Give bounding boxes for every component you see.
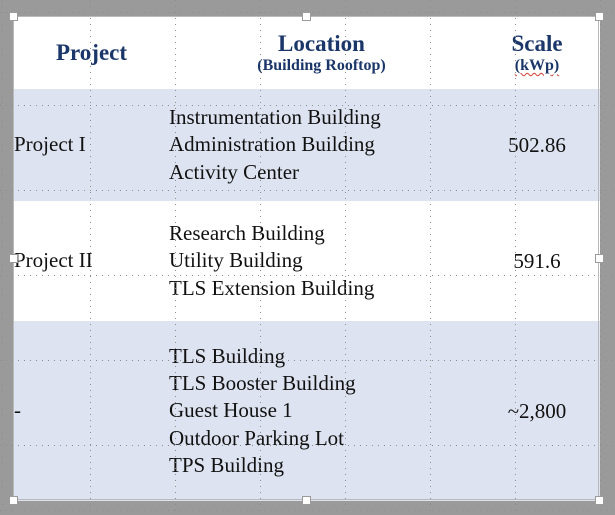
spellcheck-underlined-text: (kWp) — [515, 57, 559, 74]
location-line: Administration Building — [169, 131, 474, 158]
location-line: Instrumentation Building — [169, 104, 474, 131]
handle-bottom-left[interactable] — [9, 496, 18, 505]
cell-scale[interactable]: ~2,800 — [474, 321, 600, 501]
location-line: Activity Center — [169, 159, 474, 186]
column-header-sub-location: (Building Rooftop) — [169, 57, 474, 75]
cell-location[interactable]: Research BuildingUtility BuildingTLS Ext… — [169, 201, 474, 321]
data-table: ProjectLocation(Building Rooftop)Scale(k… — [14, 17, 600, 501]
handle-top-right[interactable] — [595, 12, 604, 21]
location-line: Utility Building — [169, 247, 474, 274]
cell-project[interactable]: Project I — [14, 89, 169, 201]
horizontal-guide-6 — [0, 510, 615, 511]
table-row[interactable]: Project IInstrumentation BuildingAdminis… — [14, 89, 600, 201]
location-line: TLS Booster Building — [169, 370, 474, 397]
cell-scale[interactable]: 591.6 — [474, 201, 600, 321]
location-line: Guest House 1 — [169, 397, 474, 424]
handle-top-left[interactable] — [9, 12, 18, 21]
handle-bottom-right[interactable] — [595, 496, 604, 505]
location-line: TPS Building — [169, 452, 474, 479]
table-object[interactable]: ProjectLocation(Building Rooftop)Scale(k… — [13, 16, 599, 500]
cell-project[interactable]: - — [14, 321, 169, 501]
column-header-main-project: Project — [14, 40, 169, 66]
handle-top-center[interactable] — [302, 12, 311, 21]
column-header-location[interactable]: Location(Building Rooftop) — [169, 17, 474, 89]
cell-scale[interactable]: 502.86 — [474, 89, 600, 201]
table-row[interactable]: Project IIResearch BuildingUtility Build… — [14, 201, 600, 321]
location-line: Outdoor Parking Lot — [169, 425, 474, 452]
column-header-project[interactable]: Project — [14, 17, 169, 89]
cell-location[interactable]: Instrumentation BuildingAdministration B… — [169, 89, 474, 201]
vertical-guide-0 — [2, 0, 3, 515]
location-line: Research Building — [169, 220, 474, 247]
table-row[interactable]: -TLS BuildingTLS Booster BuildingGuest H… — [14, 321, 600, 501]
column-header-scale[interactable]: Scale(kWp) — [474, 17, 600, 89]
handle-bottom-center[interactable] — [302, 496, 311, 505]
cell-project[interactable]: Project II — [14, 201, 169, 321]
location-line: TLS Building — [169, 343, 474, 370]
cell-location[interactable]: TLS BuildingTLS Booster BuildingGuest Ho… — [169, 321, 474, 501]
location-line: TLS Extension Building — [169, 275, 474, 302]
column-header-sub-scale: (kWp) — [474, 57, 600, 75]
column-header-main-location: Location — [169, 31, 474, 57]
handle-middle-left[interactable] — [9, 254, 18, 263]
column-header-main-scale: Scale — [474, 31, 600, 57]
handle-middle-right[interactable] — [595, 254, 604, 263]
table-header-row: ProjectLocation(Building Rooftop)Scale(k… — [14, 17, 600, 89]
